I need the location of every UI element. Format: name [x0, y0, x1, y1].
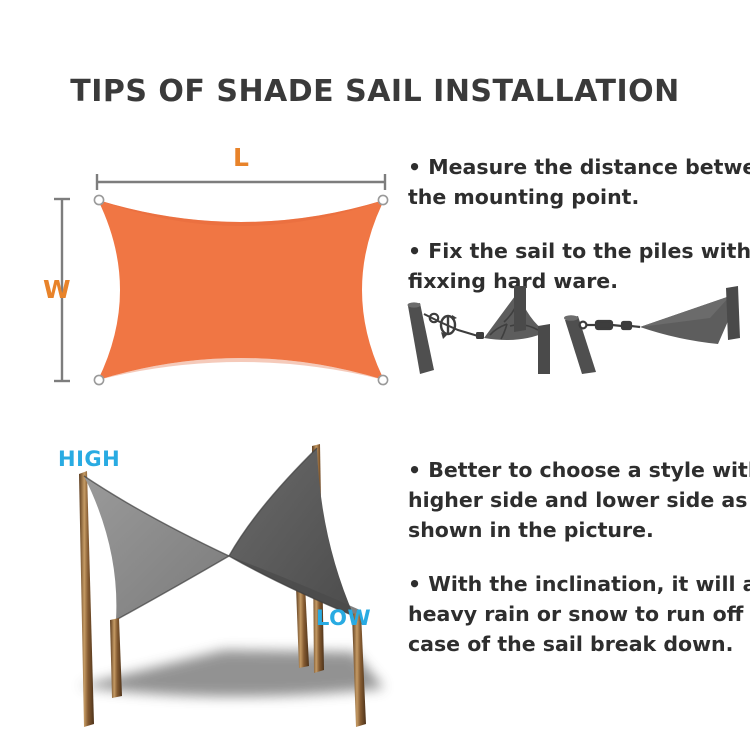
tips-bottom-text: • Better to choose a style with higher s…: [408, 455, 750, 659]
high-side-label: HIGH: [58, 447, 120, 471]
post-right-back: [726, 286, 740, 340]
tip-inclination-line-2: heavy rain or snow to run off i: [408, 599, 750, 629]
tip-measure-line-1: • Measure the distance betwee: [408, 152, 750, 182]
tip-inclination-line-3: case of the sail break down.: [408, 629, 750, 659]
shade-sail-installation-scene: [24, 438, 414, 728]
tip-fix-sail-line-1: • Fix the sail to the piles with t: [408, 236, 750, 266]
hardware-illustrations: [400, 282, 750, 374]
tip-choose-style-line-1: • Better to choose a style with: [408, 455, 750, 485]
tip-choose-style: • Better to choose a style with higher s…: [408, 455, 750, 545]
page-title: TIPS OF SHADE SAIL INSTALLATION: [0, 74, 750, 109]
chain-right: [580, 321, 640, 329]
post-high-left: [79, 471, 94, 727]
infographic-page: TIPS OF SHADE SAIL INSTALLATION: [0, 0, 750, 750]
tip-choose-style-line-2: higher side and lower side as: [408, 485, 750, 515]
ground-shadow: [79, 650, 384, 697]
width-label: W: [43, 275, 71, 304]
post-left: [408, 303, 434, 374]
hardware-illustration-right: [564, 286, 740, 374]
tip-inclination: • With the inclination, it will al heavy…: [408, 569, 750, 659]
shade-sail-dimension-diagram: L W: [36, 140, 406, 400]
post-left-right: [538, 324, 550, 374]
post-left-back: [514, 286, 526, 332]
grommet-bottom-right: [378, 375, 387, 384]
hardware-illustration-left: [408, 286, 551, 374]
tips-top-text: • Measure the distance betwee the mounti…: [408, 152, 750, 296]
grommet-bottom-left: [94, 375, 103, 384]
length-label: L: [233, 143, 249, 172]
tip-measure-line-2: the mounting point.: [408, 182, 750, 212]
grommet-top-left: [94, 195, 103, 204]
length-dimension-line: [97, 174, 385, 190]
grommet-top-right: [378, 195, 387, 204]
post-low-front: [110, 618, 122, 698]
tip-choose-style-line-3: shown in the picture.: [408, 515, 750, 545]
sail-shape: [98, 200, 384, 380]
tip-measure: • Measure the distance betwee the mounti…: [408, 152, 750, 212]
low-side-label: LOW: [316, 606, 371, 630]
sail-light: [84, 476, 229, 620]
tip-inclination-line-1: • With the inclination, it will al: [408, 569, 750, 599]
